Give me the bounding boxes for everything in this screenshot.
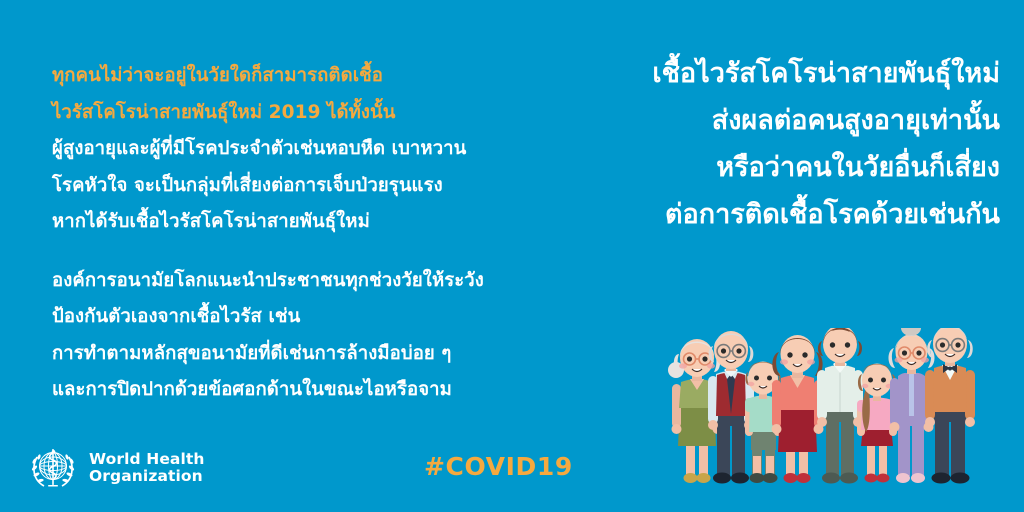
body-paragraph-2: องค์การอนามัยโลกแนะนำประชาชนทุกช่วงวัยให… <box>52 263 552 409</box>
body-line: การทำตามหลักสุขอนามัยที่ดีเช่นการล้างมือ… <box>52 336 552 373</box>
who-wordmark-line2: Organization <box>89 468 205 485</box>
body-line: และการปิดปากด้วยข้อศอกด้านในขณะไอหรือจาม <box>52 372 552 409</box>
body-copy-block: ทุกคนไม่ว่าจะอยู่ในวัยใดก็สามารถติดเชื้อ… <box>52 58 552 409</box>
body-line: ไวรัสโคโรน่าสายพันธุ์ใหม่ 2019 ได้ทั้งนั… <box>52 95 552 132</box>
who-wordmark: World Health Organization <box>89 451 205 485</box>
hashtag-covid19: #COVID19 <box>424 452 573 481</box>
who-wordmark-line1: World Health <box>89 451 205 468</box>
poster-canvas: ทุกคนไม่ว่าจะอยู่ในวัยใดก็สามารถติดเชื้อ… <box>0 0 1024 512</box>
people-illustration <box>660 328 1020 490</box>
headline-line: หรือว่าคนในวัยอื่นก็เสี่ยง <box>530 144 1000 191</box>
who-emblem-icon <box>28 443 78 493</box>
who-logo: World Health Organization <box>28 443 205 493</box>
body-line: ทุกคนไม่ว่าจะอยู่ในวัยใดก็สามารถติดเชื้อ <box>52 58 552 95</box>
body-line: หากได้รับเชื้อไวรัสโคโรน่าสายพันธุ์ใหม่ <box>52 204 552 241</box>
body-line: ป้องกันตัวเองจากเชื้อไวรัส เช่น <box>52 299 552 336</box>
body-line: โรคหัวใจ จะเป็นกลุ่มที่เสี่ยงต่อการเจ็บป… <box>52 168 552 205</box>
headline-line: ส่งผลต่อคนสูงอายุเท่านั้น <box>530 97 1000 144</box>
body-line: องค์การอนามัยโลกแนะนำประชาชนทุกช่วงวัยให… <box>52 263 552 300</box>
headline-line: เชื้อไวรัสโคโรน่าสายพันธุ์ใหม่ <box>530 50 1000 97</box>
headline-line: ต่อการติดเชื้อโรคด้วยเช่นกัน <box>530 191 1000 238</box>
body-line: ผู้สูงอายุและผู้ที่มีโรคประจำตัวเช่นหอบห… <box>52 131 552 168</box>
body-paragraph-1: ทุกคนไม่ว่าจะอยู่ในวัยใดก็สามารถติดเชื้อ… <box>52 58 552 241</box>
headline-block: เชื้อไวรัสโคโรน่าสายพันธุ์ใหม่ ส่งผลต่อค… <box>530 50 1000 238</box>
